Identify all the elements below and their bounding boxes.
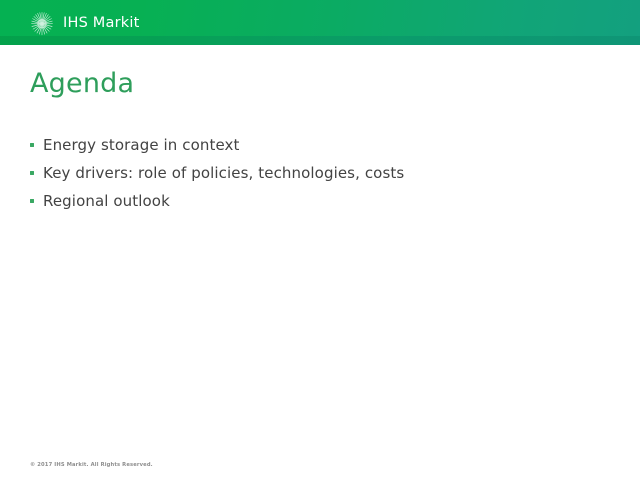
list-item-label: Key drivers: role of policies, technolog… bbox=[43, 162, 610, 184]
agenda-list: Energy storage in context Key drivers: r… bbox=[30, 134, 610, 218]
list-item: Energy storage in context bbox=[30, 134, 610, 162]
list-item: Key drivers: role of policies, technolog… bbox=[30, 162, 610, 190]
copyright-footer: © 2017 IHS Markit. All Rights Reserved. bbox=[30, 463, 153, 468]
list-item: Regional outlook bbox=[30, 190, 610, 218]
page-title: Agenda bbox=[30, 69, 134, 99]
slide-header-band: IHS Markit bbox=[0, 0, 640, 45]
bullet-dot-icon bbox=[30, 199, 34, 203]
presentation-slide: IHS Markit Agenda Energy storage in cont… bbox=[0, 0, 640, 480]
brand-name-label: IHS Markit bbox=[63, 16, 139, 31]
bullet-dot-icon bbox=[30, 143, 34, 147]
list-item-label: Regional outlook bbox=[43, 190, 610, 212]
ihs-markit-sunburst-icon bbox=[28, 9, 56, 37]
brand-logo: IHS Markit bbox=[28, 9, 139, 37]
list-item-label: Energy storage in context bbox=[43, 134, 610, 156]
bullet-dot-icon bbox=[30, 171, 34, 175]
header-bottom-shade bbox=[0, 36, 640, 45]
